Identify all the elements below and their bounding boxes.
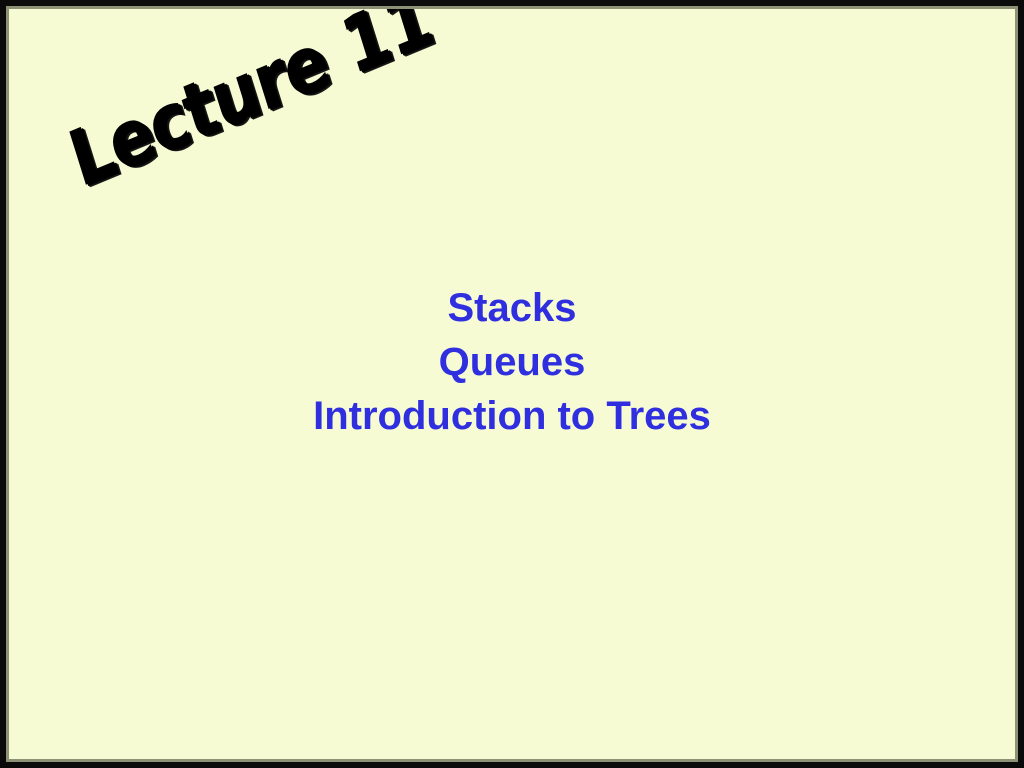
slide-frame: Lecture 11 Stacks Queues Introduction to… (0, 0, 1024, 768)
wordart-lecture-text: Lecture 11 (60, 22, 324, 203)
slide-canvas: Lecture 11 Stacks Queues Introduction to… (9, 9, 1015, 759)
title-line-introduction-to-trees: Introduction to Trees (9, 389, 1015, 443)
wordart-lecture-title: Lecture 11 (53, 9, 365, 207)
title-line-queues: Queues (9, 335, 1015, 389)
slide-inner-border: Lecture 11 Stacks Queues Introduction to… (6, 6, 1018, 762)
title-block: Stacks Queues Introduction to Trees (9, 281, 1015, 443)
title-line-stacks: Stacks (9, 281, 1015, 335)
